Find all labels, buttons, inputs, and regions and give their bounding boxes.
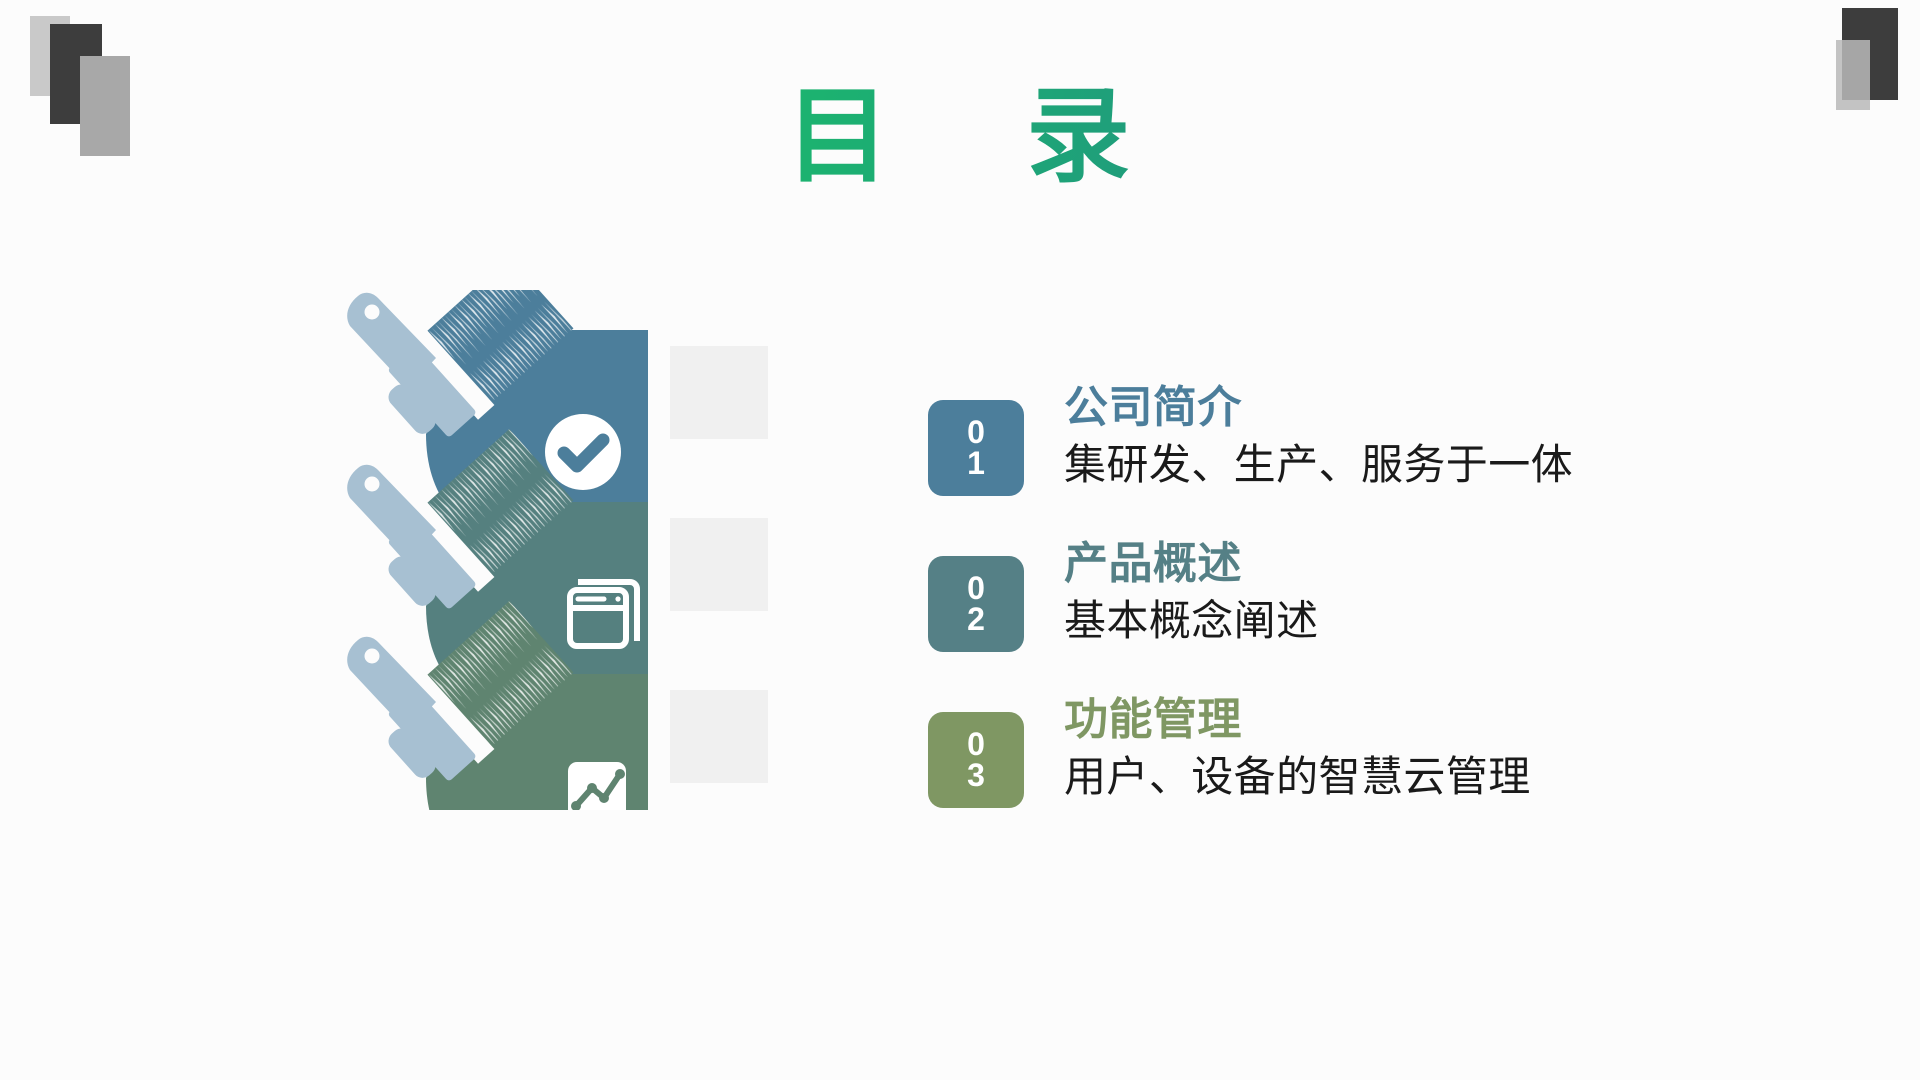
slide-root: 目 录 — [0, 0, 1920, 1080]
toc-badge-3: 0 3 — [928, 712, 1024, 808]
toc-number-top: 0 — [967, 729, 985, 760]
toc-heading-1: 公司简介 — [1064, 382, 1573, 434]
toc-number-top: 0 — [967, 417, 985, 448]
toc-subtitle-3: 用户、设备的智慧云管理 — [1064, 750, 1531, 805]
toc-number-bottom: 3 — [967, 760, 985, 791]
toc-list: 0 1 公司简介 集研发、生产、服务于一体 0 2 产品概述 基本概念阐述 0 … — [928, 382, 1808, 808]
toc-text-1: 公司简介 集研发、生产、服务于一体 — [1064, 382, 1573, 493]
toc-text-3: 功能管理 用户、设备的智慧云管理 — [1064, 694, 1531, 805]
toc-number-top: 0 — [967, 573, 985, 604]
toc-item-2[interactable]: 0 2 产品概述 基本概念阐述 — [928, 538, 1808, 652]
toc-heading-2: 产品概述 — [1064, 538, 1319, 590]
check-circle-icon — [545, 414, 621, 490]
toc-number-bottom: 2 — [967, 604, 985, 635]
brush-illustration — [330, 290, 800, 810]
toc-item-1[interactable]: 0 1 公司简介 集研发、生产、服务于一体 — [928, 382, 1808, 496]
toc-subtitle-2: 基本概念阐述 — [1064, 594, 1319, 649]
toc-text-2: 产品概述 基本概念阐述 — [1064, 538, 1319, 649]
line-chart-icon — [568, 762, 626, 810]
toc-badge-1: 0 1 — [928, 400, 1024, 496]
toc-item-3[interactable]: 0 3 功能管理 用户、设备的智慧云管理 — [928, 694, 1808, 808]
toc-subtitle-1: 集研发、生产、服务于一体 — [1064, 438, 1573, 493]
toc-badge-2: 0 2 — [928, 556, 1024, 652]
page-title: 目 录 — [0, 78, 1920, 198]
toc-heading-3: 功能管理 — [1064, 694, 1531, 746]
toc-number-bottom: 1 — [967, 448, 985, 479]
